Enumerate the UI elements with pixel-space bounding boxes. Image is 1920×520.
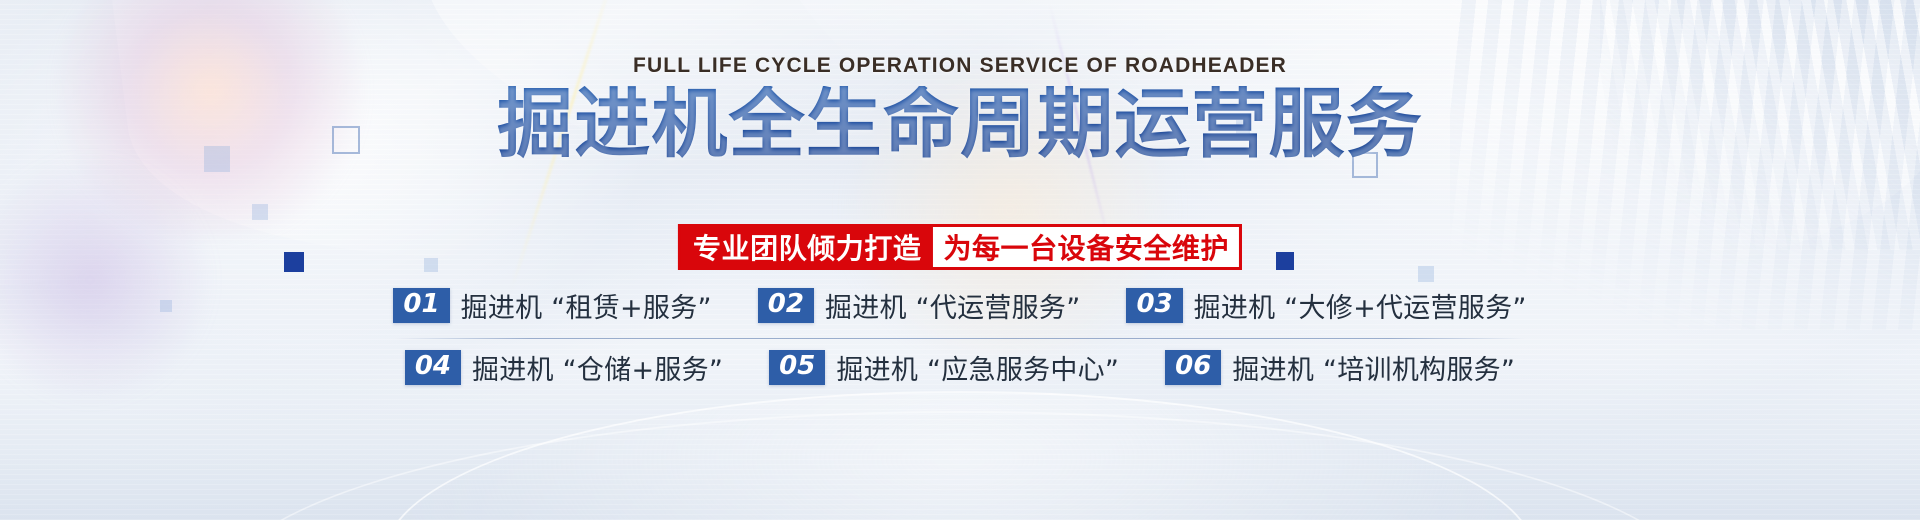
tagline-bar: 专业团队倾力打造 为每一台设备安全维护	[678, 224, 1242, 270]
services-row-top: 01 掘进机 “租赁+服务” 02 掘进机 “代运营服务” 03 掘进机 “大修…	[340, 278, 1580, 333]
service-label: 掘进机 “应急服务中心”	[836, 348, 1119, 387]
service-item-03[interactable]: 03 掘进机 “大修+代运营服务”	[1126, 286, 1526, 325]
service-item-04[interactable]: 04 掘进机 “仓储+服务”	[405, 348, 723, 387]
tagline-secondary: 为每一台设备安全维护	[933, 227, 1239, 267]
service-label: 掘进机 “培训机构服务”	[1232, 348, 1515, 387]
banner-headline: 掘进机全生命周期运营服务	[0, 86, 1920, 162]
service-label: 掘进机 “大修+代运营服务”	[1194, 286, 1527, 325]
banner-content: FULL LIFE CYCLE OPERATION SERVICE OF ROA…	[0, 0, 1920, 520]
service-label: 掘进机 “代运营服务”	[825, 286, 1081, 325]
service-number-badge: 02	[758, 288, 814, 322]
tagline-primary: 专业团队倾力打造	[681, 227, 933, 267]
service-item-05[interactable]: 05 掘进机 “应急服务中心”	[769, 348, 1119, 387]
service-number-badge: 05	[769, 350, 825, 384]
service-number-badge: 03	[1126, 288, 1182, 322]
service-item-01[interactable]: 01 掘进机 “租赁+服务”	[393, 286, 711, 325]
service-number-badge: 01	[393, 288, 449, 322]
banner-eyebrow-english: FULL LIFE CYCLE OPERATION SERVICE OF ROA…	[0, 54, 1920, 78]
service-item-06[interactable]: 06 掘进机 “培训机构服务”	[1165, 348, 1515, 387]
services-divider	[395, 338, 1525, 339]
service-label: 掘进机 “租赁+服务”	[461, 286, 712, 325]
services-row-bottom: 04 掘进机 “仓储+服务” 05 掘进机 “应急服务中心” 06 掘进机 “培…	[340, 340, 1580, 395]
service-label: 掘进机 “仓储+服务”	[472, 348, 723, 387]
hero-banner: FULL LIFE CYCLE OPERATION SERVICE OF ROA…	[0, 0, 1920, 520]
service-number-badge: 06	[1165, 350, 1221, 384]
service-number-badge: 04	[405, 350, 461, 384]
service-item-02[interactable]: 02 掘进机 “代运营服务”	[758, 286, 1081, 325]
